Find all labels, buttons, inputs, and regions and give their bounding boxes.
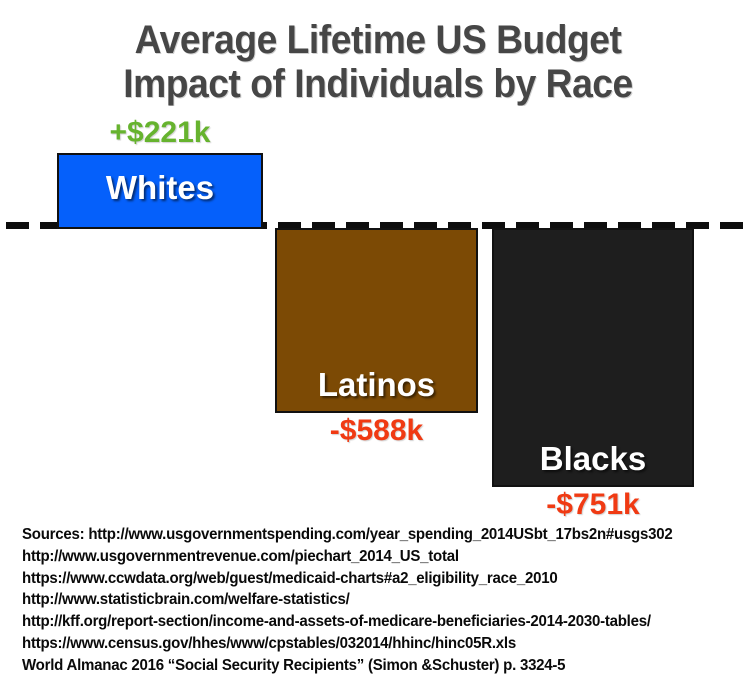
bar-whites[interactable]: Whites xyxy=(57,153,263,229)
source-line-4: http://www.statisticbrain.com/welfare-st… xyxy=(22,589,730,611)
bar-blacks[interactable]: Blacks xyxy=(492,228,694,487)
value-label-whites: +$221k xyxy=(57,117,263,149)
source-line-6: https://www.census.gov/hhes/www/cpstable… xyxy=(22,633,730,655)
bar-chart-plot-area: +$221k Whites Latinos -$588k Blacks -$75… xyxy=(0,0,756,520)
bar-latinos[interactable]: Latinos xyxy=(275,228,478,413)
bar-label-whites: Whites xyxy=(59,170,261,206)
bar-label-latinos: Latinos xyxy=(277,367,476,403)
source-line-1: Sources: http://www.usgovernmentspending… xyxy=(22,524,730,546)
sources-block: Sources: http://www.usgovernmentspending… xyxy=(22,524,730,677)
source-line-5: http://kff.org/report-section/income-and… xyxy=(22,611,730,633)
bar-label-blacks: Blacks xyxy=(494,441,692,477)
source-line-3: https://www.ccwdata.org/web/guest/medica… xyxy=(22,568,730,590)
source-line-2: http://www.usgovernmentrevenue.com/piech… xyxy=(22,546,730,568)
value-label-blacks: -$751k xyxy=(492,489,694,521)
value-label-latinos: -$588k xyxy=(275,415,478,447)
source-line-7: World Almanac 2016 “Social Security Reci… xyxy=(22,655,730,677)
